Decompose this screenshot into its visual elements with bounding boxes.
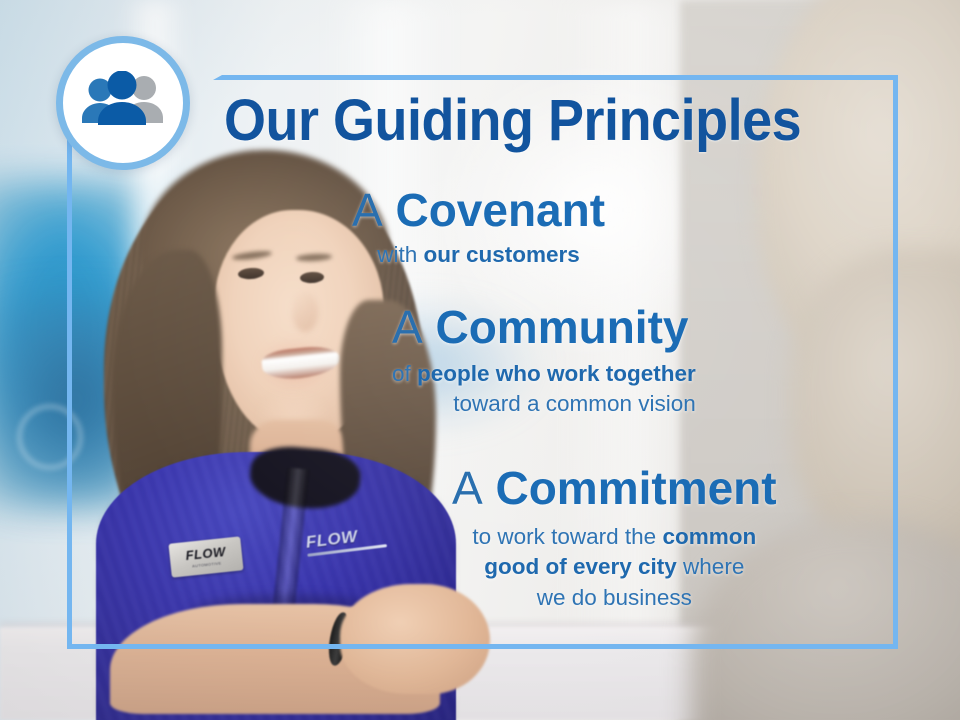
principle-community-word: Community	[435, 301, 688, 353]
principle-commitment-subline-3: we do business	[452, 583, 777, 613]
subline-part-bold: good of every city	[484, 554, 677, 579]
principle-community-heading: A Community	[392, 303, 696, 351]
principle-covenant-word: Covenant	[395, 184, 605, 236]
principle-community-lead: A	[392, 301, 423, 353]
principle-commitment-subtext: to work toward the common good of every …	[452, 522, 777, 612]
principle-community-subline-2: toward a common vision	[392, 389, 696, 419]
principle-covenant-subline-1: with our customers	[352, 240, 605, 270]
marketing-graphic: FLOW AUTOMOTIVE FLOW Our Guidi	[0, 0, 960, 720]
people-group-icon-badge	[56, 36, 190, 170]
principle-covenant-subtext: with our customers	[352, 240, 605, 270]
subline-part: where	[677, 554, 745, 579]
people-group-icon	[77, 71, 169, 135]
principle-commitment-heading: A Commitment	[452, 464, 777, 512]
subline-part-bold: common	[662, 524, 756, 549]
principle-covenant-lead: A	[352, 184, 383, 236]
subline-part: to work toward the	[472, 524, 662, 549]
principle-commitment: A Commitment to work toward the common g…	[452, 464, 777, 613]
principle-community-subline-1: of people who work together	[392, 359, 696, 389]
frame-border-right	[893, 75, 898, 649]
subline-part: with	[377, 242, 423, 267]
principle-community: A Community of people who work together …	[392, 303, 696, 420]
page-title: Our Guiding Principles	[224, 92, 801, 150]
principle-covenant-heading: A Covenant	[352, 186, 605, 234]
principle-commitment-word: Commitment	[495, 462, 776, 514]
principle-community-subtext: of people who work together toward a com…	[392, 359, 696, 419]
principle-commitment-subline-1: to work toward the common	[452, 522, 777, 552]
subline-part-bold: people who work together	[417, 361, 696, 386]
principle-covenant: A Covenant with our customers	[352, 186, 605, 270]
frame-border-top	[213, 75, 898, 80]
principle-commitment-subline-2: good of every city where	[452, 552, 777, 582]
subline-part: of	[392, 361, 417, 386]
frame-border-left	[67, 84, 72, 649]
subline-part-bold: our customers	[424, 242, 580, 267]
frame-border-bottom	[67, 644, 898, 649]
principle-commitment-lead: A	[452, 462, 483, 514]
